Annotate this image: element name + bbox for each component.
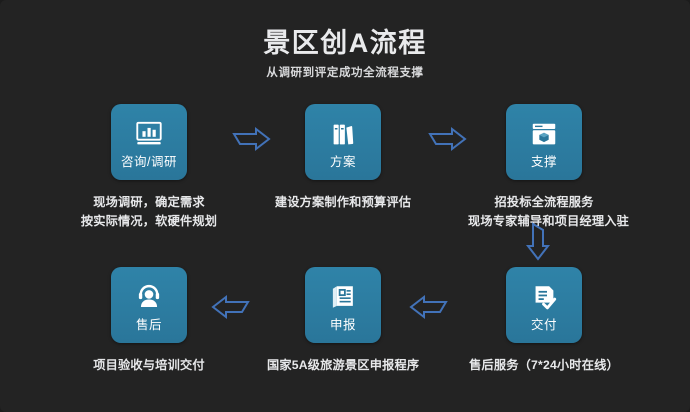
step-6-description: 项目验收与培训交付 (73, 356, 225, 375)
step-1-label: 咨询/调研 (121, 154, 177, 170)
step-4-card[interactable]: 交付 (506, 267, 582, 343)
page-subtitle: 从调研到评定成功全流程支撑 (0, 65, 690, 81)
step-1-desc-line1: 现场调研，确定需求 (73, 193, 225, 212)
arrow-step1-to-step2 (232, 126, 272, 152)
headset-support-icon (134, 282, 164, 312)
step-1-description: 现场调研，确定需求 按实际情况，软硬件规划 (73, 193, 225, 231)
step-2-card[interactable]: 方案 (305, 104, 381, 180)
document-lines-icon (328, 282, 358, 312)
arrow-step5-to-step6 (210, 294, 250, 320)
books-icon (328, 119, 358, 149)
flowchart-canvas: 景区创A流程 从调研到评定成功全流程支撑 咨询/调研 现场调研，确定需求 按实际… (0, 0, 690, 412)
step-4-desc-line1: 售后服务（7*24小时在线） (468, 356, 620, 375)
step-5-label: 申报 (330, 317, 356, 333)
page-title: 景区创A流程 (0, 26, 690, 60)
step-6-desc-line1: 项目验收与培训交付 (73, 356, 225, 375)
step-3-label: 支撑 (531, 154, 557, 170)
step-3[interactable]: 支撑 招投标全流程服务 现场专家辅导和项目经理入驻 (468, 104, 620, 231)
step-6[interactable]: 售后 项目验收与培训交付 (73, 267, 225, 375)
step-3-card[interactable]: 支撑 (506, 104, 582, 180)
step-5-card[interactable]: 申报 (305, 267, 381, 343)
step-2-desc-line1: 建设方案制作和预算评估 (267, 193, 419, 212)
arrow-step4-to-step5 (408, 294, 448, 320)
step-2-description: 建设方案制作和预算评估 (267, 193, 419, 212)
window-cube-icon (529, 119, 559, 149)
step-6-label: 售后 (136, 317, 162, 333)
step-5-description: 国家5A级旅游景区申报程序 (267, 356, 419, 375)
step-4[interactable]: 交付 售后服务（7*24小时在线） (468, 267, 620, 375)
step-6-card[interactable]: 售后 (111, 267, 187, 343)
step-4-description: 售后服务（7*24小时在线） (468, 356, 620, 375)
step-1[interactable]: 咨询/调研 现场调研，确定需求 按实际情况，软硬件规划 (73, 104, 225, 231)
document-check-icon (529, 282, 559, 312)
step-5[interactable]: 申报 国家5A级旅游景区申报程序 (267, 267, 419, 375)
step-1-desc-line2: 按实际情况，软硬件规划 (73, 212, 225, 231)
step-1-card[interactable]: 咨询/调研 (111, 104, 187, 180)
step-4-label: 交付 (531, 317, 557, 333)
bar-chart-board-icon (134, 119, 164, 149)
header: 景区创A流程 从调研到评定成功全流程支撑 (0, 26, 690, 81)
step-3-desc-line1: 招投标全流程服务 (468, 193, 620, 212)
arrow-step3-to-step4 (525, 222, 551, 262)
step-2[interactable]: 方案 建设方案制作和预算评估 (267, 104, 419, 212)
step-2-label: 方案 (330, 154, 356, 170)
step-5-desc-line1: 国家5A级旅游景区申报程序 (267, 356, 419, 375)
arrow-step2-to-step3 (428, 126, 468, 152)
